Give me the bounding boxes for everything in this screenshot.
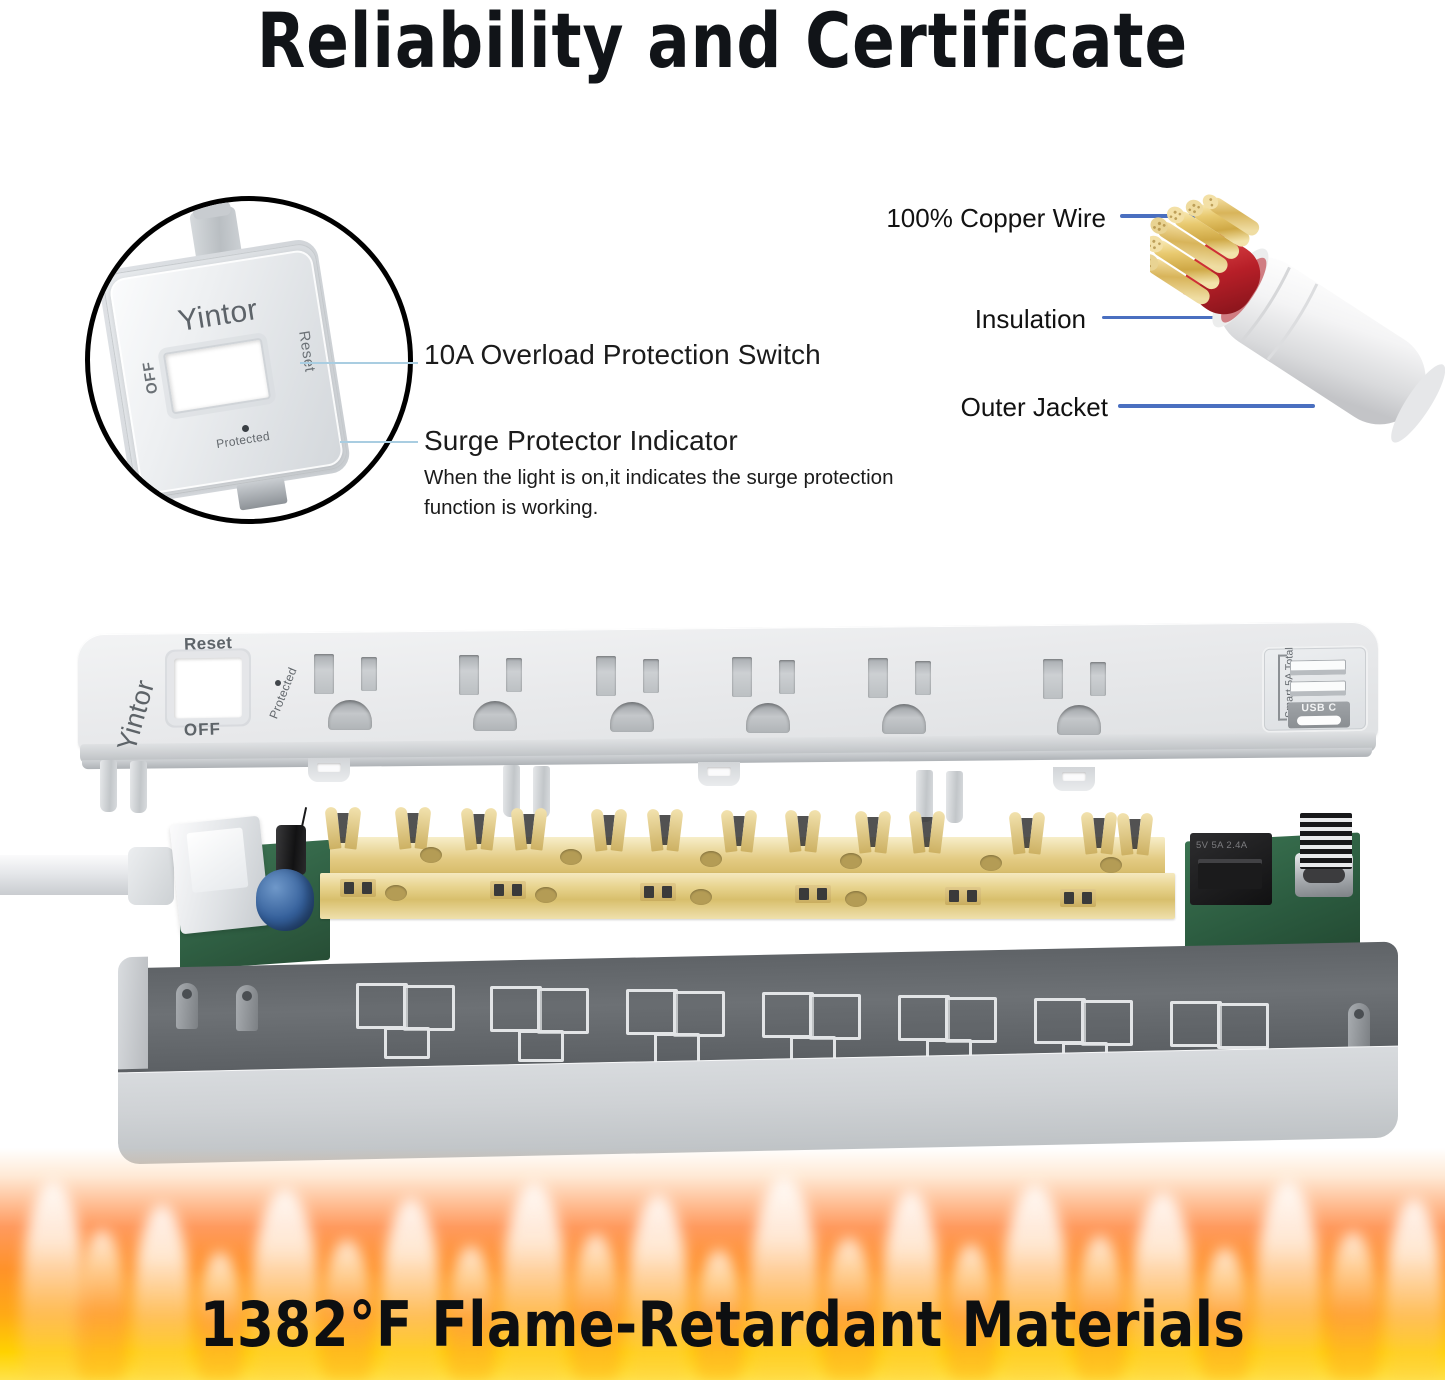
- leader-line-overload: [300, 362, 418, 364]
- terminal-tab: [945, 887, 981, 905]
- cavity-divider: [673, 991, 725, 1037]
- contact-clip: [648, 809, 682, 857]
- outlet-neutral-slot: [596, 656, 616, 696]
- power-cord: [0, 855, 140, 895]
- flame-banner-text: 1382°F Flame-Retardant Materials: [36, 1288, 1409, 1361]
- outlet-ground-hole: [473, 701, 517, 731]
- shell-left-wall: [118, 957, 148, 1070]
- cavity-divider: [490, 986, 542, 1032]
- contact-clip: [326, 807, 360, 855]
- heatsink-component: [1300, 813, 1352, 869]
- callout-label-copper-wire: 100% Copper Wire: [868, 203, 1106, 234]
- contact-clip: [910, 811, 944, 859]
- power-strip-top-shell: Yintor Reset OFF Protected: [78, 628, 1398, 808]
- outlet-neutral-slot: [314, 654, 334, 694]
- reset-label: Reset: [184, 633, 233, 655]
- busbar-hole: [980, 855, 1002, 871]
- keyhole-slot-2: [698, 762, 740, 786]
- cavity-divider: [898, 995, 950, 1041]
- outlet-hot-slot: [506, 658, 522, 692]
- usb-a-connector-module: 5V 5A 2.4A: [1190, 833, 1272, 905]
- outlet-4[interactable]: [732, 657, 826, 729]
- screw-post-1: [176, 983, 198, 1029]
- contact-clip: [1082, 812, 1116, 860]
- keyhole-slot-1: [308, 758, 350, 782]
- cavity-divider: [403, 985, 455, 1031]
- outlet-neutral-slot: [868, 658, 888, 698]
- page-title: Reliability and Certificate: [58, 0, 1387, 85]
- cavity-divider-small: [518, 1030, 564, 1062]
- usb-c-port[interactable]: USB C: [1288, 701, 1350, 728]
- cable-svg: [1150, 150, 1445, 470]
- off-label: OFF: [184, 719, 222, 740]
- terminal-tab: [340, 879, 376, 897]
- outlet-ground-hole: [610, 702, 654, 732]
- contact-clip: [856, 811, 890, 859]
- cavity-divider: [1217, 1003, 1269, 1049]
- busbar-hole: [700, 851, 722, 867]
- usb-c-opening: [1297, 716, 1341, 726]
- cavity-divider: [1170, 1001, 1222, 1047]
- outlet-ground-hole: [1057, 705, 1101, 735]
- contact-clip: [592, 809, 626, 857]
- terminal-tab: [795, 885, 831, 903]
- screw-post-3: [1348, 1003, 1370, 1049]
- outlet-ground-hole: [882, 704, 926, 734]
- usb-c-label: USB C: [1289, 701, 1349, 714]
- callout-description-surge-indicator: When the light is on,it indicates the su…: [424, 463, 894, 523]
- usb-module-rating-label: 5V 5A 2.4A: [1196, 840, 1248, 851]
- contact-clip: [512, 808, 546, 856]
- busbar-hole: [560, 849, 582, 865]
- outlet-ground-hole: [328, 700, 372, 730]
- cavity-divider: [1081, 1000, 1133, 1046]
- magnifier-circle: Yintor OFF Reset Protected: [85, 196, 413, 524]
- usb-port-panel[interactable]: Smart 5A Total USB C: [1262, 645, 1368, 733]
- callout-label-insulation: Insulation: [868, 304, 1086, 335]
- usb-a-port-1[interactable]: [1290, 659, 1346, 675]
- terminal-tab: [490, 881, 526, 899]
- busbar-hole-lower: [535, 887, 557, 903]
- busbar-hole-lower: [845, 891, 867, 907]
- cavity-divider: [1034, 998, 1086, 1044]
- protected-indicator-dot: [242, 425, 249, 432]
- overload-switch[interactable]: [174, 657, 242, 718]
- busbar-lower: [320, 873, 1175, 919]
- cavity-divider: [626, 989, 678, 1035]
- outlet-hot-slot: [915, 661, 931, 695]
- contact-clip: [462, 808, 496, 856]
- outlet-neutral-slot: [459, 655, 479, 695]
- callout-label-overload-switch: 10A Overload Protection Switch: [424, 339, 821, 371]
- breaker-closeup: Yintor OFF Reset Protected: [90, 201, 408, 519]
- busbar-hole-lower: [385, 885, 407, 901]
- terminal-tab: [640, 883, 676, 901]
- mov-surge-component: [256, 869, 314, 931]
- contact-clip: [786, 810, 820, 858]
- capacitor-black: [276, 825, 306, 875]
- outlet-2[interactable]: [459, 655, 553, 727]
- cavity-divider: [762, 992, 814, 1038]
- breaker-module: [169, 816, 270, 935]
- callout-label-surge-indicator: Surge Protector Indicator: [424, 425, 738, 457]
- outlet-6[interactable]: [1043, 659, 1137, 731]
- outlet-ground-hole: [746, 703, 790, 733]
- cavity-divider: [945, 997, 997, 1043]
- outlet-5[interactable]: [868, 658, 962, 730]
- power-strip-bottom-shell: [118, 955, 1398, 1155]
- outlet-1[interactable]: [314, 654, 408, 726]
- cable-cutaway-illustration: [1150, 150, 1445, 470]
- cord-strain-relief: [128, 847, 174, 905]
- terminal-tab: [1060, 889, 1096, 907]
- outlet-neutral-slot: [732, 657, 752, 697]
- cavity-divider-small: [384, 1027, 430, 1059]
- outlet-hot-slot: [1090, 662, 1106, 696]
- cavity-divider: [537, 988, 589, 1034]
- busbar-hole-lower: [690, 889, 712, 905]
- cavity-divider: [809, 994, 861, 1040]
- outlet-hot-slot: [361, 657, 377, 691]
- callout-label-outer-jacket: Outer Jacket: [868, 392, 1108, 423]
- outlet-3[interactable]: [596, 656, 690, 728]
- outlet-neutral-slot: [1043, 659, 1063, 699]
- keyhole-slot-3: [1053, 767, 1095, 791]
- usb-a-port-2[interactable]: [1290, 680, 1346, 696]
- busbar-hole: [840, 853, 862, 869]
- outlet-hot-slot: [779, 660, 795, 694]
- infographic-page: Reliability and Certificate Yintor OFF R…: [0, 0, 1445, 1380]
- screw-post-2: [236, 985, 258, 1031]
- cavity-divider: [356, 983, 408, 1029]
- leader-line-surge: [340, 441, 418, 443]
- outlet-hot-slot: [643, 659, 659, 693]
- busbar-hole: [420, 847, 442, 863]
- busbar-hole: [1100, 857, 1122, 873]
- contact-clip: [1010, 812, 1044, 860]
- contact-clip: [1118, 813, 1152, 861]
- contact-clip: [722, 810, 756, 858]
